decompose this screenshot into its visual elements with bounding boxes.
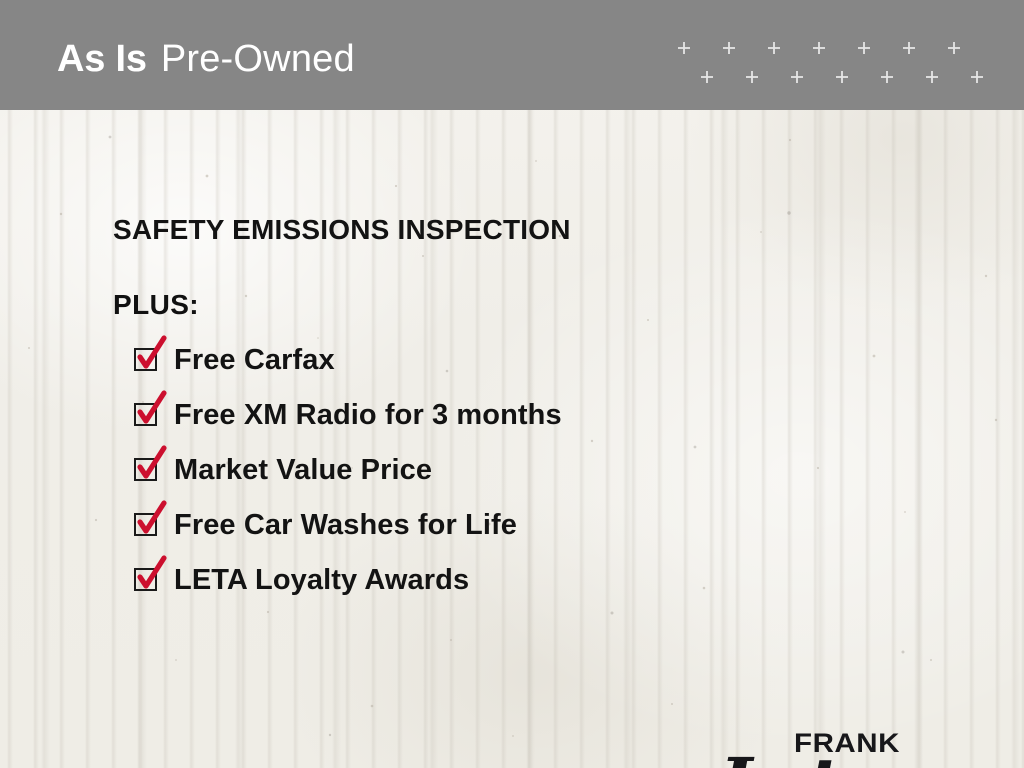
list-item-label: Market Value Price bbox=[174, 452, 432, 488]
list-item-label: Free XM Radio for 3 months bbox=[174, 397, 562, 433]
logo-leta-text: Leta bbox=[718, 742, 879, 768]
checkbox-checked-icon bbox=[134, 403, 161, 430]
plus-mark-pattern-icon bbox=[670, 38, 1000, 93]
plus-heading: PLUS: bbox=[113, 289, 199, 321]
page-title-strong: As Is bbox=[57, 38, 147, 80]
list-item: Free XM Radio for 3 months bbox=[134, 397, 894, 452]
list-item: Free Car Washes for Life bbox=[134, 507, 894, 562]
checkbox-checked-icon bbox=[134, 348, 161, 375]
list-item-label: Free Car Washes for Life bbox=[174, 507, 517, 543]
slide: As IsPre-Owned bbox=[0, 0, 1024, 768]
list-item-label: LETA Loyalty Awards bbox=[174, 562, 469, 598]
list-item: Free Carfax bbox=[134, 342, 894, 397]
slide-body: SAFETY EMISSIONS INSPECTION PLUS: Free C… bbox=[0, 110, 1024, 768]
list-item: Market Value Price bbox=[134, 452, 894, 507]
frank-leta-logo: FRANK Leta bbox=[706, 716, 916, 768]
page-title-light: Pre-Owned bbox=[161, 38, 355, 80]
checkbox-checked-icon bbox=[134, 568, 161, 595]
checkbox-checked-icon bbox=[134, 513, 161, 540]
page-title: As IsPre-Owned bbox=[57, 36, 355, 82]
benefits-checklist: Free Carfax Free XM Radio for 3 months bbox=[134, 342, 894, 617]
header-band: As IsPre-Owned bbox=[0, 0, 1024, 110]
list-item: LETA Loyalty Awards bbox=[134, 562, 894, 617]
list-item-label: Free Carfax bbox=[174, 342, 335, 378]
subheading: SAFETY EMISSIONS INSPECTION bbox=[113, 214, 571, 246]
checkbox-checked-icon bbox=[134, 458, 161, 485]
